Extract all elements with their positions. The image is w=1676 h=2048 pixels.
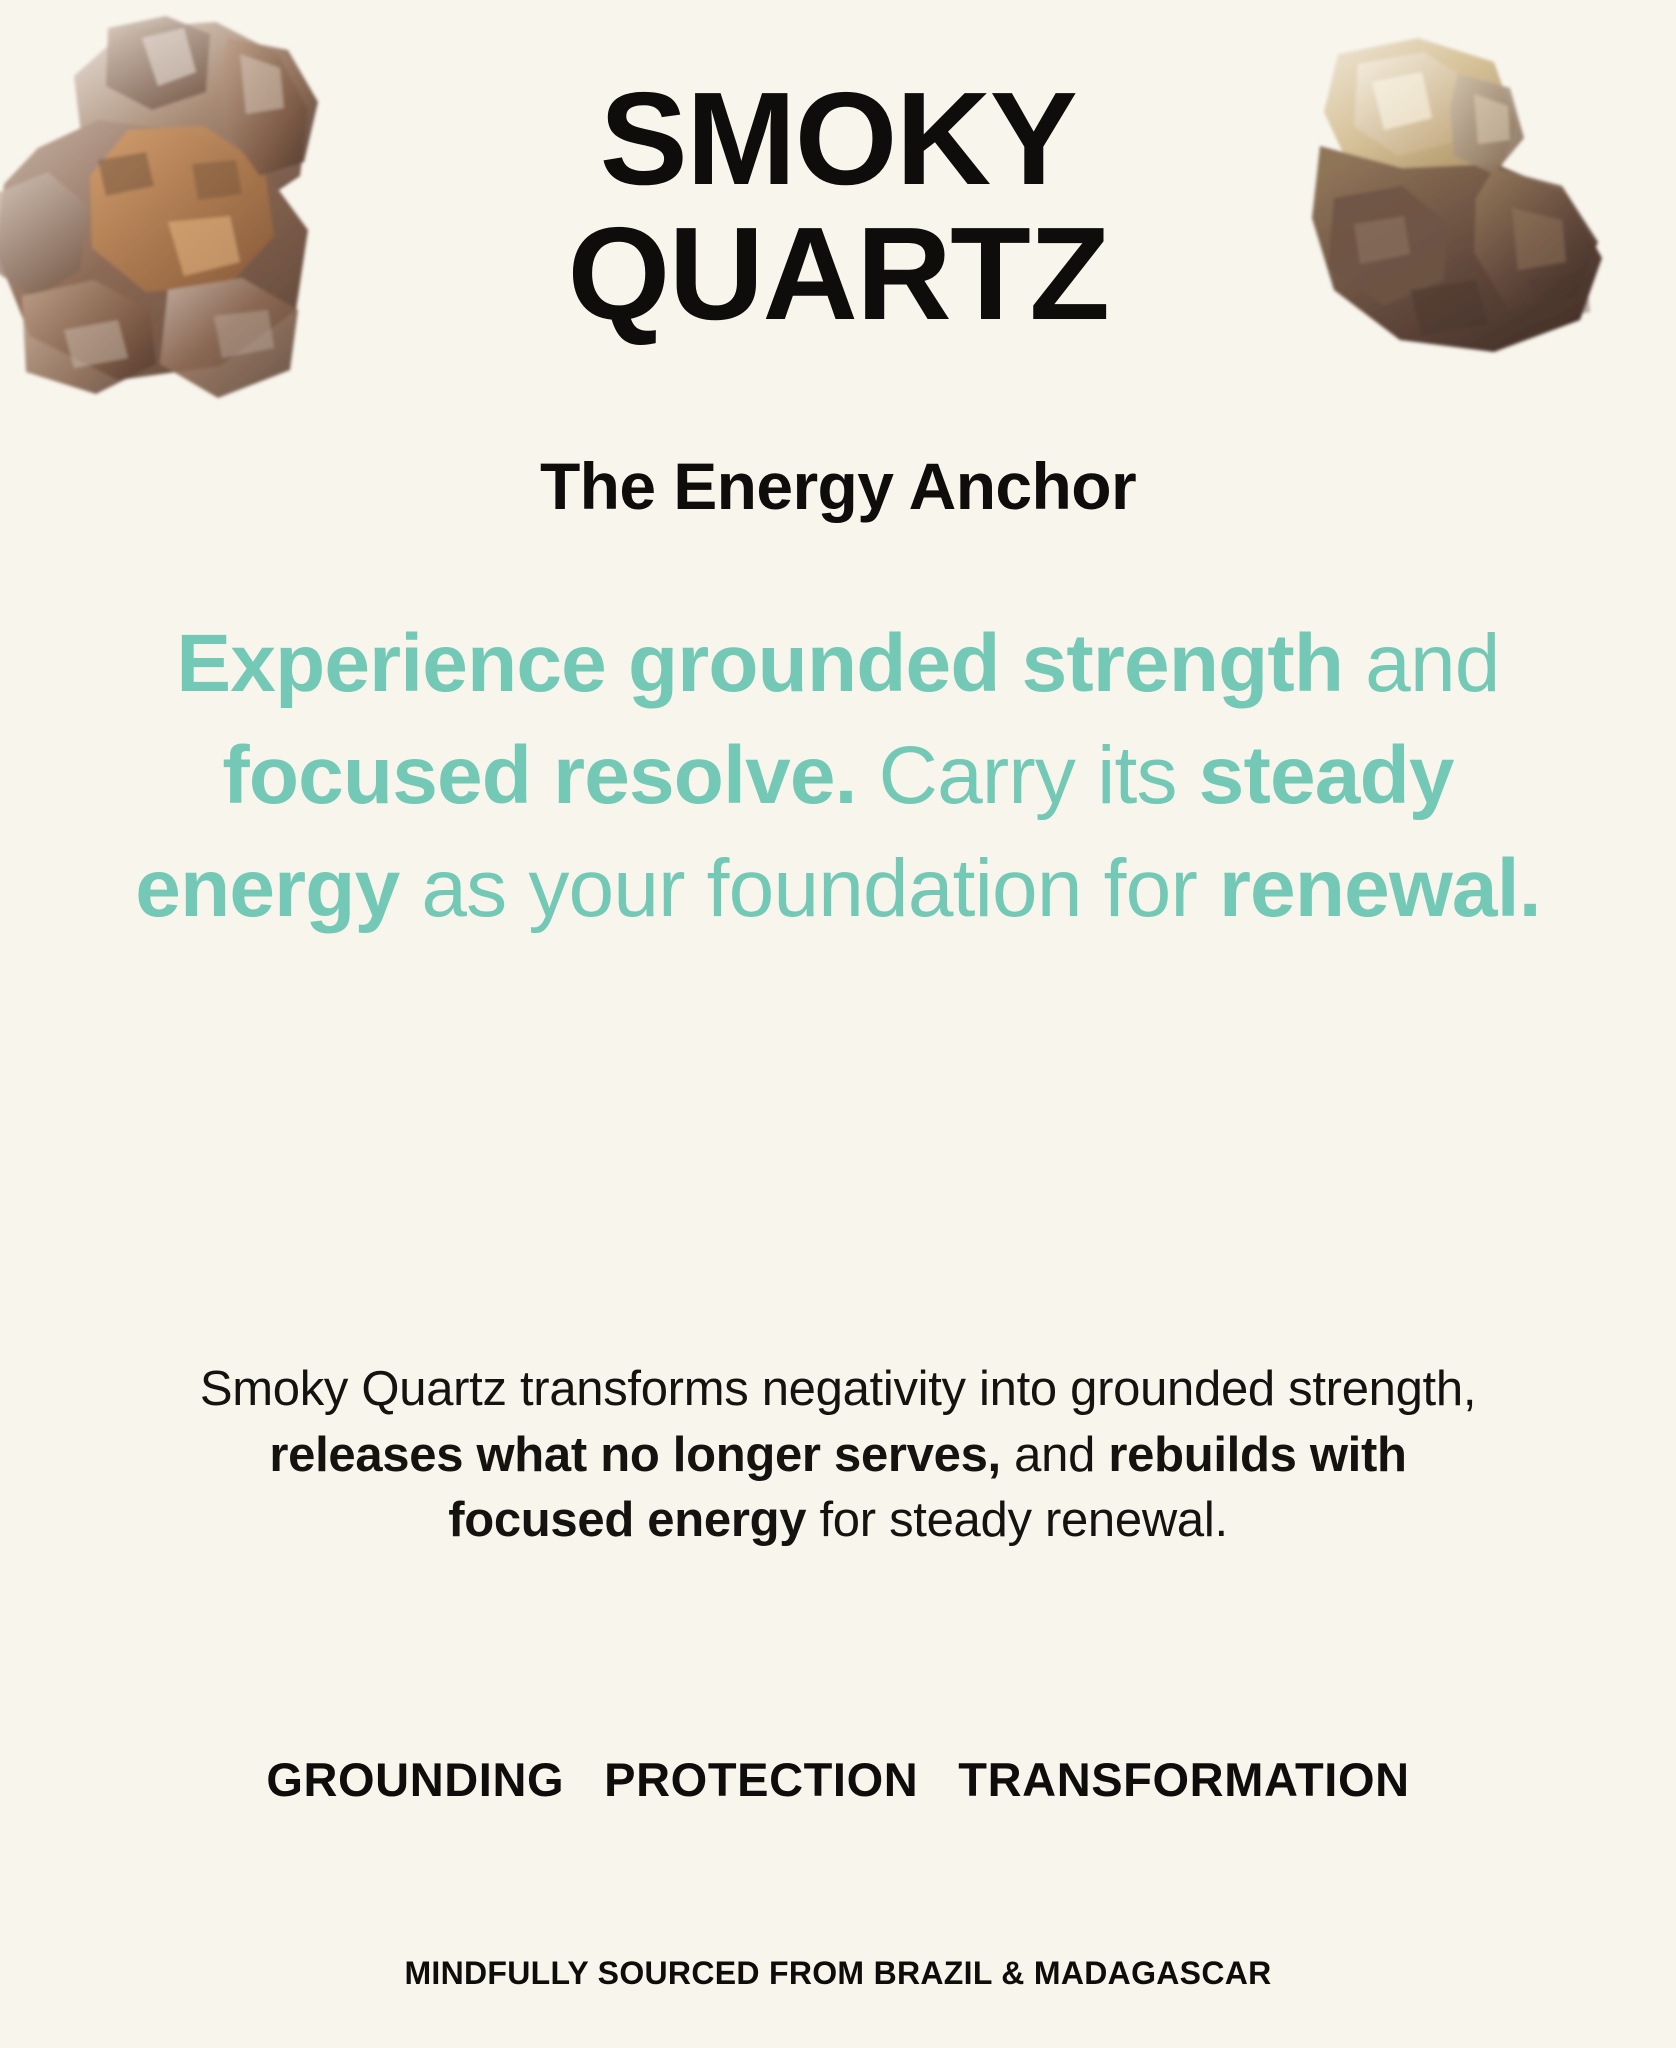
subtitle: The Energy Anchor	[0, 448, 1676, 524]
text-run-4: for steady renewal.	[806, 1493, 1228, 1547]
description-text: Smoky Quartz transforms negativity into …	[178, 1357, 1498, 1554]
text-run-2: focused resolve.	[222, 730, 856, 821]
text-run-3: Carry its	[857, 730, 1199, 821]
keyword-row: GROUNDINGPROTECTIONTRANSFORMATION	[0, 1752, 1676, 1807]
keyword-3: TRANSFORMATION	[958, 1752, 1409, 1807]
title-line-1: SMOKY	[0, 72, 1676, 207]
text-run-0: Experience grounded strength	[176, 618, 1343, 709]
page-title: SMOKY QUARTZ	[0, 72, 1676, 341]
text-run-1: releases what no longer serves,	[269, 1428, 1001, 1482]
text-run-5: as your foundation for	[399, 843, 1219, 934]
statement-text: Experience grounded strength and focused…	[118, 608, 1558, 945]
text-run-6: renewal.	[1219, 843, 1541, 934]
keyword-1: GROUNDING	[266, 1752, 564, 1807]
text-run-2: and	[1001, 1428, 1108, 1482]
text-run-1: and	[1343, 618, 1499, 709]
title-line-2: QUARTZ	[0, 207, 1676, 342]
keyword-2: PROTECTION	[604, 1752, 918, 1807]
text-run-0: Smoky Quartz transforms negativity into …	[200, 1362, 1476, 1416]
sourcing-footer: MINDFULLY SOURCED FROM BRAZIL & MADAGASC…	[0, 1955, 1676, 1992]
smoky-quartz-poster: SMOKY QUARTZ The Energy Anchor Experienc…	[0, 0, 1676, 2048]
